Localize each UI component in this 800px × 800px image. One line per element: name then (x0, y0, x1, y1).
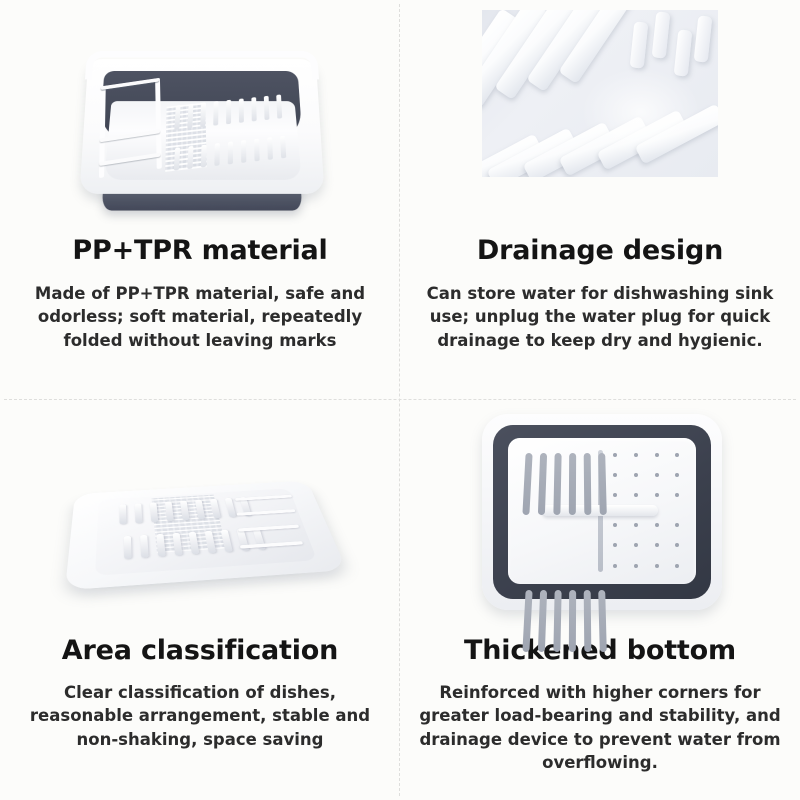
cutlery-compartments (99, 78, 163, 183)
dish-rack-expanded-illustration (78, 38, 326, 222)
feature-card-drainage: Drainage design Can store water for dish… (400, 0, 800, 400)
rack-bottom-panel (508, 438, 696, 584)
drainage-ridges-macro-photo (400, 0, 800, 236)
description-classification: Clear classification of dishes, reasonab… (12, 681, 388, 751)
plate-separator-fins (171, 93, 298, 179)
feature-infographic: PP+TPR material Made of PP+TPR material,… (0, 0, 800, 800)
caption-material: PP+TPR material Made of PP+TPR material,… (0, 236, 400, 352)
drainage-macro-illustration (482, 10, 718, 177)
caption-drainage: Drainage design Can store water for dish… (400, 236, 800, 352)
drainage-panel (508, 438, 696, 584)
caption-classification: Area classification Clear classification… (0, 636, 400, 751)
feature-card-material: PP+TPR material Made of PP+TPR material,… (0, 0, 400, 400)
description-material: Made of PP+TPR material, safe and odorle… (12, 282, 388, 352)
headline-material: PP+TPR material (12, 236, 388, 266)
expanded-dish-rack-photo (0, 0, 400, 236)
headline-drainage: Drainage design (412, 236, 788, 266)
dish-rack-collapsed-illustration (58, 428, 344, 618)
headline-classification: Area classification (12, 636, 388, 666)
collapsed-dish-rack-photo (0, 400, 400, 636)
rack-top-rim (85, 51, 319, 80)
caption-bottom: Thickened bottom Reinforced with higher … (400, 636, 800, 774)
thickened-bottom-photo (400, 400, 800, 636)
rack-bottom-illustration (482, 414, 722, 610)
feature-card-bottom: Thickened bottom Reinforced with higher … (400, 400, 800, 800)
feature-card-classification: Area classification Clear classification… (0, 400, 400, 800)
description-drainage: Can store water for dishwashing sink use… (412, 282, 788, 352)
description-bottom: Reinforced with higher corners for great… (412, 681, 788, 775)
